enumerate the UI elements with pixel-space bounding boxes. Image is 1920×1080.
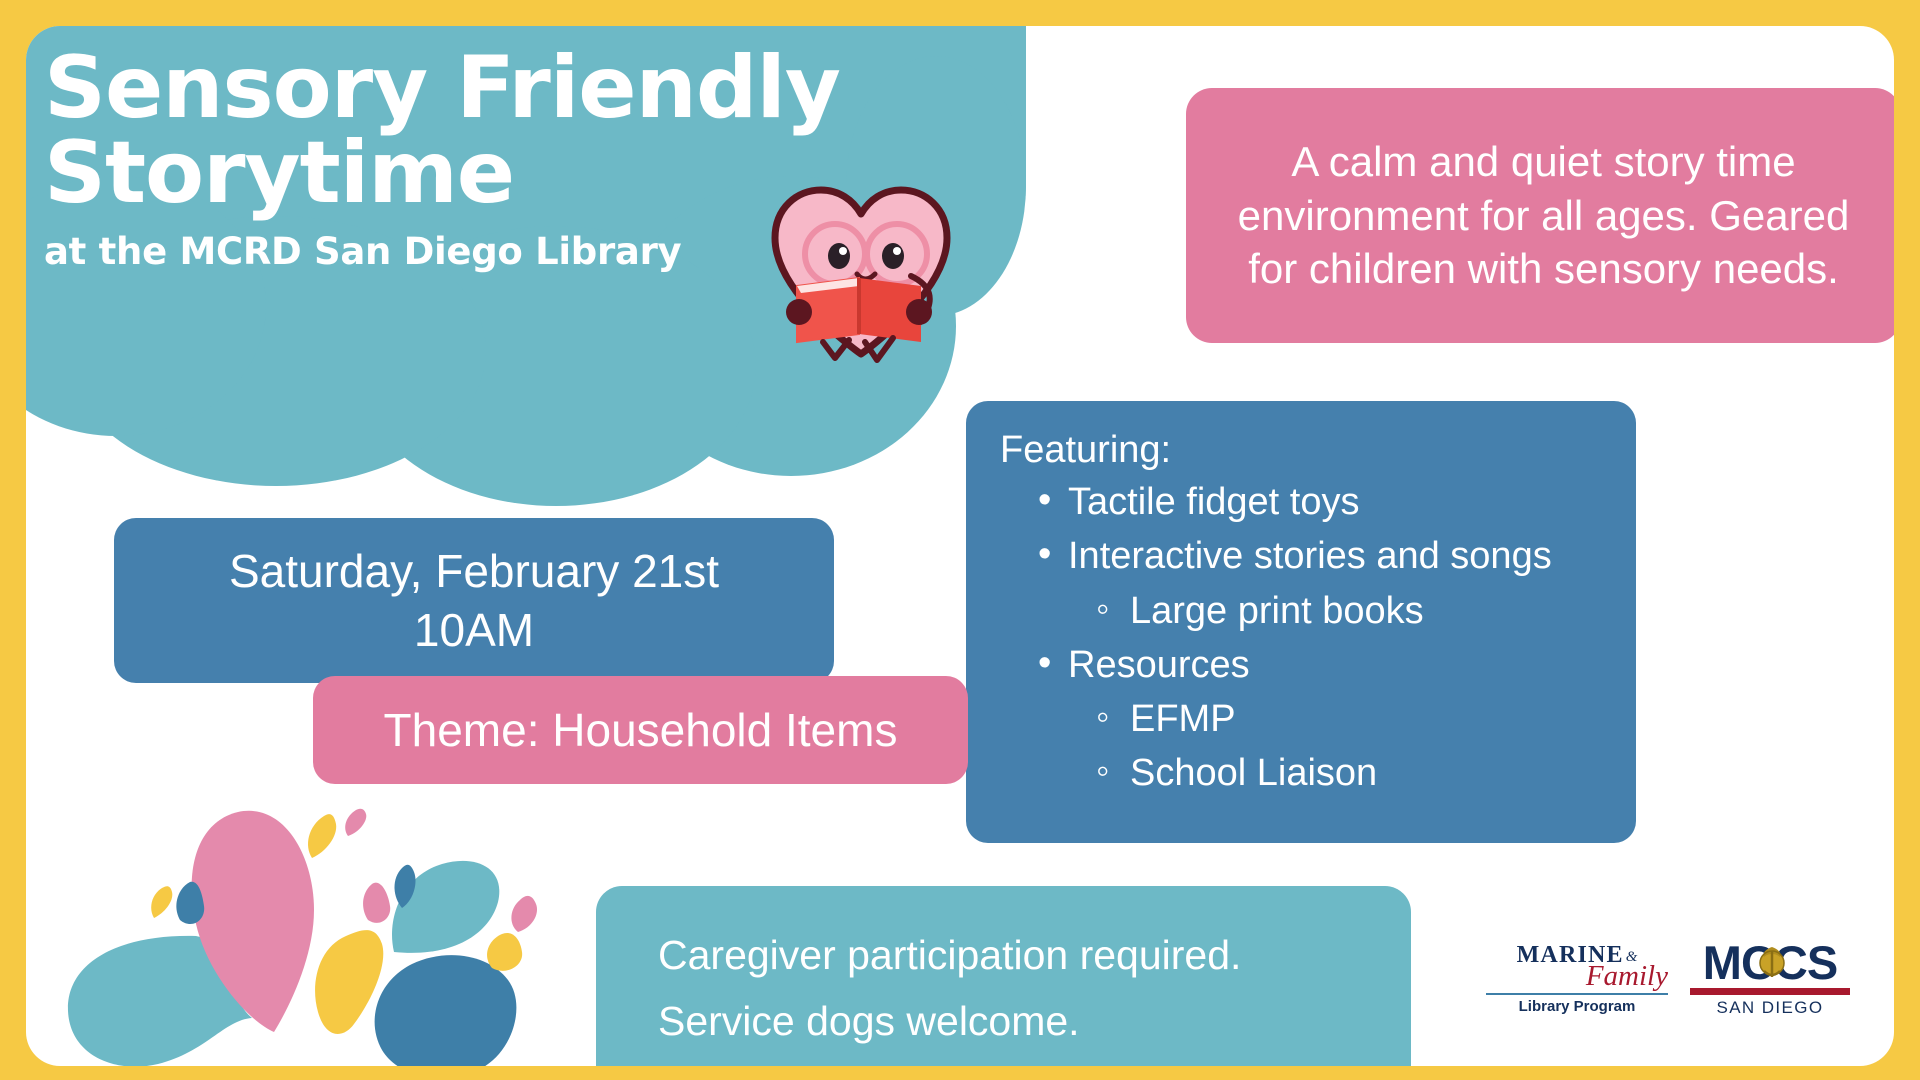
list-item: Interactive stories and songs bbox=[1000, 532, 1606, 580]
featuring-list: Tactile fidget toys Interactive stories … bbox=[1000, 478, 1606, 798]
event-theme-text: Theme: Household Items bbox=[384, 703, 898, 757]
mccs-logo: MCCS SAN DIEGO bbox=[1690, 939, 1850, 1018]
logo-group: MARINE & Family Library Program MCCS SAN… bbox=[1486, 939, 1850, 1018]
description-box: A calm and quiet story time environment … bbox=[1186, 88, 1894, 343]
paint-splash-decoration-icon bbox=[46, 806, 606, 1066]
logo-divider bbox=[1486, 993, 1668, 995]
mccs-divider bbox=[1690, 988, 1850, 995]
contact-line-3: Questions? Call 619-524-1849 bbox=[658, 1055, 1411, 1066]
contact-box: Caregiver participation required. Servic… bbox=[596, 886, 1411, 1066]
title-line-1: Sensory Friendly bbox=[44, 46, 944, 131]
featuring-heading: Featuring: bbox=[1000, 429, 1606, 472]
list-item: School Liaison bbox=[1000, 749, 1606, 797]
mccs-location-text: SAN DIEGO bbox=[1690, 998, 1850, 1018]
list-item: Large print books bbox=[1000, 587, 1606, 635]
featuring-box: Featuring: Tactile fidget toys Interacti… bbox=[966, 401, 1636, 843]
flyer-poster: Sensory Friendly Storytime at the MCRD S… bbox=[0, 0, 1920, 1080]
event-time: 10AM bbox=[414, 601, 534, 660]
event-theme-banner: Theme: Household Items bbox=[313, 676, 968, 784]
list-item: Tactile fidget toys bbox=[1000, 478, 1606, 526]
event-date: Saturday, February 21st bbox=[229, 542, 719, 601]
event-datetime-box: Saturday, February 21st 10AM bbox=[114, 518, 834, 683]
marine-family-logo: MARINE & Family Library Program bbox=[1486, 942, 1668, 1015]
list-item: Resources bbox=[1000, 641, 1606, 689]
flyer-card: Sensory Friendly Storytime at the MCRD S… bbox=[26, 26, 1894, 1066]
library-program-text: Library Program bbox=[1486, 998, 1668, 1015]
eagle-globe-anchor-icon bbox=[1752, 941, 1792, 981]
contact-line-2: Service dogs welcome. bbox=[658, 988, 1411, 1054]
description-text: A calm and quiet story time environment … bbox=[1220, 135, 1867, 296]
list-item: EFMP bbox=[1000, 695, 1606, 743]
contact-line-1: Caregiver participation required. bbox=[658, 922, 1411, 988]
heart-reading-mascot-icon bbox=[761, 176, 961, 366]
